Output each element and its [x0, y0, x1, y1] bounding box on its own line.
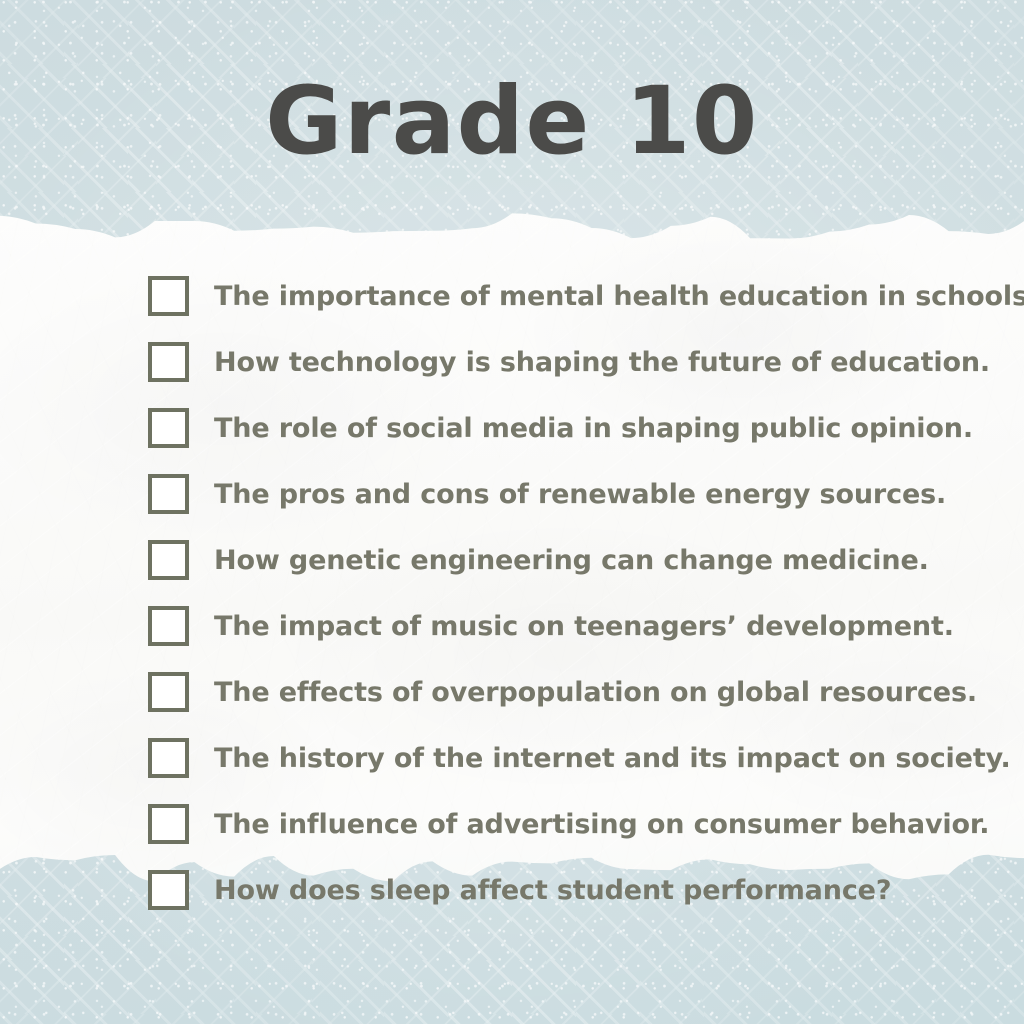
list-item-label: How technology is shaping the future of … — [214, 349, 990, 376]
list-item[interactable]: How does sleep affect student performanc… — [148, 857, 988, 923]
list-item-label: The influence of advertising on consumer… — [214, 811, 989, 838]
checkbox-icon[interactable] — [148, 408, 189, 448]
checkbox-icon[interactable] — [148, 342, 189, 382]
checklist: The importance of mental health educatio… — [148, 263, 988, 923]
list-item-label: How does sleep affect student performanc… — [214, 877, 891, 904]
list-item-label: The history of the internet and its impa… — [214, 745, 1011, 772]
list-item[interactable]: The effects of overpopulation on global … — [148, 659, 988, 725]
list-item[interactable]: The pros and cons of renewable energy so… — [148, 461, 988, 527]
list-item-label: The pros and cons of renewable energy so… — [214, 481, 946, 508]
list-item-label: The effects of overpopulation on global … — [214, 679, 977, 706]
page-title: Grade 10 — [265, 74, 759, 170]
checkbox-icon[interactable] — [148, 276, 189, 316]
checkbox-icon[interactable] — [148, 540, 189, 580]
list-item[interactable]: The role of social media in shaping publ… — [148, 395, 988, 461]
list-item[interactable]: The impact of music on teenagers’ develo… — [148, 593, 988, 659]
checkbox-icon[interactable] — [148, 606, 189, 646]
poster-canvas: Grade 10 The importance of mental health… — [0, 0, 1024, 1024]
checkbox-icon[interactable] — [148, 804, 189, 844]
checkbox-icon[interactable] — [148, 474, 189, 514]
list-item[interactable]: The importance of mental health educatio… — [148, 263, 988, 329]
page-title-container: Grade 10 — [0, 74, 1024, 170]
list-item[interactable]: How genetic engineering can change medic… — [148, 527, 988, 593]
list-item-label: The impact of music on teenagers’ develo… — [214, 613, 954, 640]
list-item[interactable]: The history of the internet and its impa… — [148, 725, 988, 791]
checkbox-icon[interactable] — [148, 672, 189, 712]
list-item-label: How genetic engineering can change medic… — [214, 547, 929, 574]
checkbox-icon[interactable] — [148, 738, 189, 778]
list-item-label: The role of social media in shaping publ… — [214, 415, 973, 442]
list-item-label: The importance of mental health educatio… — [214, 283, 1024, 310]
list-item[interactable]: How technology is shaping the future of … — [148, 329, 988, 395]
checkbox-icon[interactable] — [148, 870, 189, 910]
list-item[interactable]: The influence of advertising on consumer… — [148, 791, 988, 857]
